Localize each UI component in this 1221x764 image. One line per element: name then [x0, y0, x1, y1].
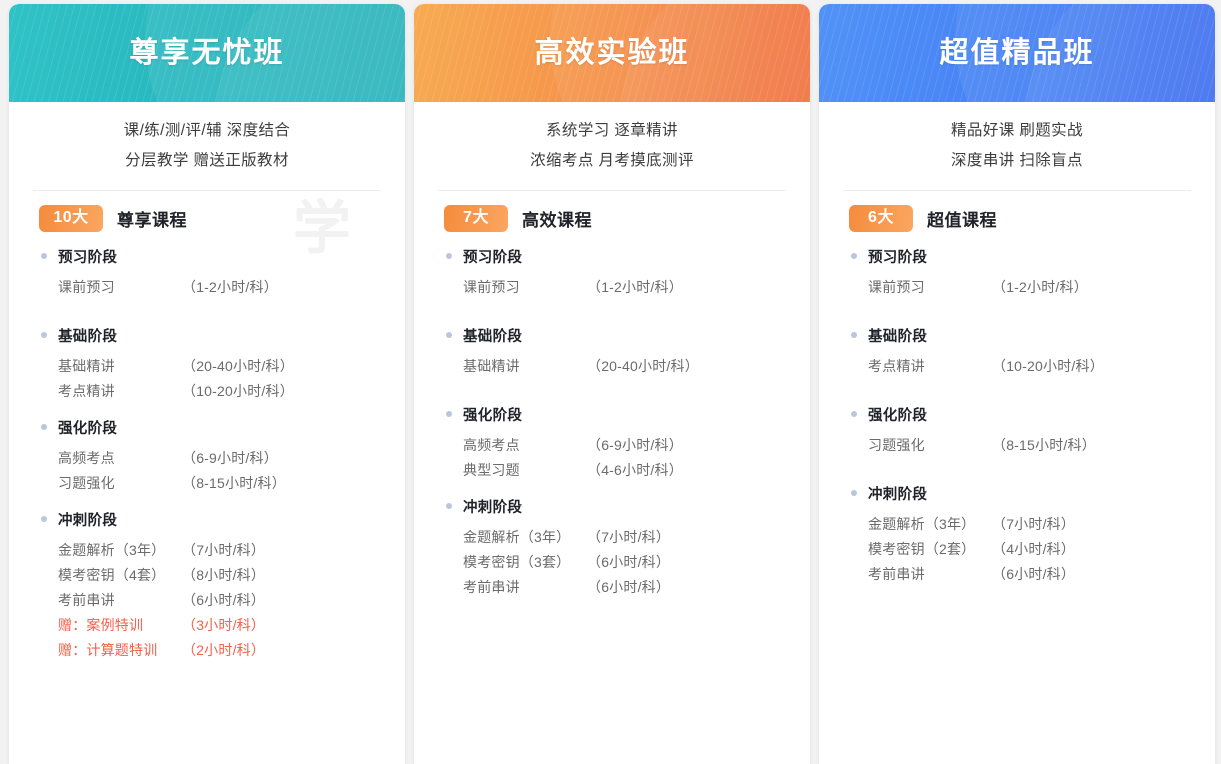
- course-count-badge: 6大: [849, 205, 913, 232]
- stage-name: 强化阶段: [463, 404, 522, 425]
- stage-header: 预习阶段: [414, 244, 810, 268]
- stage-list: 预习阶段课前预习（1-2小时/科）基础阶段基础精讲（20-40小时/科）考点精讲…: [9, 232, 405, 662]
- course-hours: （10-20小时/科）: [992, 356, 1104, 376]
- course-hours: （20-40小时/科）: [182, 356, 294, 376]
- course-row: 典型习题（4-6小时/科）: [414, 457, 810, 482]
- stage-name: 强化阶段: [868, 404, 927, 425]
- stage-block: 强化阶段习题强化（8-15小时/科）: [819, 402, 1215, 457]
- stage-header: 强化阶段: [9, 415, 405, 439]
- course-name: 课前预习: [463, 277, 587, 297]
- course-hours: （8-15小时/科）: [992, 435, 1096, 455]
- stage-spacer: [414, 299, 810, 323]
- course-name: 习题强化: [868, 435, 992, 455]
- course-plan-card[interactable]: 超值精品班精品好课 刷题实战深度串讲 扫除盲点6大超值课程预习阶段课前预习（1-…: [819, 4, 1215, 764]
- stage-header: 基础阶段: [819, 323, 1215, 347]
- course-row: 考点精讲（10-20小时/科）: [9, 378, 405, 403]
- course-row: 金题解析（3年）（7小时/科）: [819, 511, 1215, 536]
- course-hours: （10-20小时/科）: [182, 381, 294, 401]
- course-group-label: 高效课程: [522, 206, 592, 231]
- course-list: 考点精讲（10-20小时/科）: [819, 347, 1215, 378]
- stage-block: 冲刺阶段金题解析（3年）（7小时/科）模考密钥（4套）（8小时/科）考前串讲（6…: [9, 507, 405, 662]
- course-row: 基础精讲（20-40小时/科）: [9, 353, 405, 378]
- course-hours: （3小时/科）: [182, 615, 265, 635]
- course-row: 课前预习（1-2小时/科）: [819, 274, 1215, 299]
- course-row: 习题强化（8-15小时/科）: [819, 432, 1215, 457]
- course-row: 赠：计算题特训（2小时/科）: [9, 637, 405, 662]
- bullet-dot-icon: [41, 253, 47, 259]
- course-plan-card[interactable]: 尊享无忧班课/练/测/评/辅 深度结合分层教学 赠送正版教材10大尊享课程学预习…: [9, 4, 405, 764]
- stage-header: 冲刺阶段: [819, 481, 1215, 505]
- stage-spacer: [819, 378, 1215, 402]
- card-subtitle: 系统学习 逐章精讲浓缩考点 月考摸底测评: [414, 102, 810, 176]
- course-hours: （7小时/科）: [587, 527, 670, 547]
- stage-name: 冲刺阶段: [463, 496, 522, 517]
- course-group-label: 超值课程: [927, 206, 997, 231]
- bullet-dot-icon: [851, 411, 857, 417]
- stage-block: 基础阶段考点精讲（10-20小时/科）: [819, 323, 1215, 378]
- bullet-dot-icon: [851, 253, 857, 259]
- card-subtitle-line: 浓缩考点 月考摸底测评: [414, 146, 810, 176]
- course-hours: （1-2小时/科）: [182, 277, 278, 297]
- course-hours: （6小时/科）: [992, 564, 1075, 584]
- course-count-badge: 7大: [444, 205, 508, 232]
- course-name: 考点精讲: [58, 381, 182, 401]
- card-header-banner: 尊享无忧班: [9, 4, 405, 102]
- bullet-dot-icon: [446, 411, 452, 417]
- course-count-row: 7大高效课程: [414, 191, 810, 232]
- course-list: 课前预习（1-2小时/科）: [819, 268, 1215, 299]
- course-name: 赠：计算题特训: [58, 640, 182, 660]
- card-title: 高效实验班: [414, 4, 810, 102]
- course-list: 高频考点（6-9小时/科）典型习题（4-6小时/科）: [414, 426, 810, 482]
- course-name: 基础精讲: [58, 356, 182, 376]
- course-hours: （6小时/科）: [587, 552, 670, 572]
- course-name: 典型习题: [463, 460, 587, 480]
- course-hours: （4小时/科）: [992, 539, 1075, 559]
- stage-spacer: [9, 299, 405, 323]
- course-list: 高频考点（6-9小时/科）习题强化（8-15小时/科）: [9, 439, 405, 495]
- course-name: 习题强化: [58, 473, 182, 493]
- course-list: 基础精讲（20-40小时/科）考点精讲（10-20小时/科）: [9, 347, 405, 403]
- stage-name: 基础阶段: [868, 325, 927, 346]
- course-name: 赠：案例特训: [58, 615, 182, 635]
- course-row: 考前串讲（6小时/科）: [414, 574, 810, 599]
- course-hours: （20-40小时/科）: [587, 356, 699, 376]
- stage-name: 基础阶段: [58, 325, 117, 346]
- stage-header: 冲刺阶段: [9, 507, 405, 531]
- stage-spacer: [414, 482, 810, 494]
- course-name: 金题解析（3年）: [868, 514, 992, 534]
- course-row: 习题强化（8-15小时/科）: [9, 470, 405, 495]
- card-subtitle-line: 精品好课 刷题实战: [819, 116, 1215, 146]
- stage-block: 预习阶段课前预习（1-2小时/科）: [9, 244, 405, 299]
- course-hours: （7小时/科）: [182, 540, 265, 560]
- course-group-label: 尊享课程: [117, 206, 187, 231]
- stage-header: 预习阶段: [819, 244, 1215, 268]
- stage-name: 冲刺阶段: [868, 483, 927, 504]
- stage-block: 强化阶段高频考点（6-9小时/科）典型习题（4-6小时/科）: [414, 402, 810, 482]
- course-name: 课前预习: [868, 277, 992, 297]
- course-row: 考前串讲（6小时/科）: [819, 561, 1215, 586]
- stage-header: 基础阶段: [414, 323, 810, 347]
- course-name: 模考密钥（2套）: [868, 539, 992, 559]
- stage-spacer: [414, 378, 810, 402]
- bullet-dot-icon: [851, 490, 857, 496]
- course-list: 金题解析（3年）（7小时/科）模考密钥（4套）（8小时/科）考前串讲（6小时/科…: [9, 531, 405, 662]
- stage-list: 预习阶段课前预习（1-2小时/科）基础阶段考点精讲（10-20小时/科）强化阶段…: [819, 232, 1215, 586]
- course-row: 考前串讲（6小时/科）: [9, 587, 405, 612]
- stage-block: 基础阶段基础精讲（20-40小时/科）: [414, 323, 810, 378]
- course-name: 模考密钥（4套）: [58, 565, 182, 585]
- course-row: 模考密钥（4套）（8小时/科）: [9, 562, 405, 587]
- course-list: 金题解析（3年）（7小时/科）模考密钥（3套）（6小时/科）考前串讲（6小时/科…: [414, 518, 810, 599]
- course-plan-card[interactable]: 高效实验班系统学习 逐章精讲浓缩考点 月考摸底测评7大高效课程预习阶段课前预习（…: [414, 4, 810, 764]
- bullet-dot-icon: [41, 516, 47, 522]
- stage-block: 预习阶段课前预习（1-2小时/科）: [414, 244, 810, 299]
- stage-header: 预习阶段: [9, 244, 405, 268]
- course-name: 考前串讲: [58, 590, 182, 610]
- card-header-banner: 高效实验班: [414, 4, 810, 102]
- course-row: 课前预习（1-2小时/科）: [414, 274, 810, 299]
- course-list: 课前预习（1-2小时/科）: [414, 268, 810, 299]
- course-row: 课前预习（1-2小时/科）: [9, 274, 405, 299]
- stage-header: 强化阶段: [819, 402, 1215, 426]
- course-row: 基础精讲（20-40小时/科）: [414, 353, 810, 378]
- stage-spacer: [9, 403, 405, 415]
- course-count-row: 6大超值课程: [819, 191, 1215, 232]
- course-list: 习题强化（8-15小时/科）: [819, 426, 1215, 457]
- course-name: 考点精讲: [868, 356, 992, 376]
- course-hours: （4-6小时/科）: [587, 460, 683, 480]
- course-list: 基础精讲（20-40小时/科）: [414, 347, 810, 378]
- stage-block: 基础阶段基础精讲（20-40小时/科）考点精讲（10-20小时/科）: [9, 323, 405, 403]
- card-subtitle: 精品好课 刷题实战深度串讲 扫除盲点: [819, 102, 1215, 176]
- course-list: 课前预习（1-2小时/科）: [9, 268, 405, 299]
- card-subtitle-line: 课/练/测/评/辅 深度结合: [9, 116, 405, 146]
- course-hours: （6-9小时/科）: [587, 435, 683, 455]
- stage-name: 预习阶段: [463, 246, 522, 267]
- course-hours: （7小时/科）: [992, 514, 1075, 534]
- bullet-dot-icon: [446, 253, 452, 259]
- course-row: 金题解析（3年）（7小时/科）: [414, 524, 810, 549]
- bullet-dot-icon: [446, 332, 452, 338]
- course-name: 课前预习: [58, 277, 182, 297]
- course-plan-comparison: 尊享无忧班课/练/测/评/辅 深度结合分层教学 赠送正版教材10大尊享课程学预习…: [0, 0, 1221, 702]
- bullet-dot-icon: [851, 332, 857, 338]
- course-name: 高频考点: [58, 448, 182, 468]
- stage-spacer: [9, 495, 405, 507]
- bullet-dot-icon: [41, 424, 47, 430]
- course-row: 模考密钥（2套）（4小时/科）: [819, 536, 1215, 561]
- stage-header: 基础阶段: [9, 323, 405, 347]
- stage-block: 强化阶段高频考点（6-9小时/科）习题强化（8-15小时/科）: [9, 415, 405, 495]
- stage-name: 预习阶段: [58, 246, 117, 267]
- course-list: 金题解析（3年）（7小时/科）模考密钥（2套）（4小时/科）考前串讲（6小时/科…: [819, 505, 1215, 586]
- course-hours: （8-15小时/科）: [182, 473, 286, 493]
- course-name: 金题解析（3年）: [463, 527, 587, 547]
- course-hours: （1-2小时/科）: [992, 277, 1088, 297]
- stage-header: 冲刺阶段: [414, 494, 810, 518]
- stage-spacer: [819, 457, 1215, 481]
- course-row: 模考密钥（3套）（6小时/科）: [414, 549, 810, 574]
- course-row: 赠：案例特训（3小时/科）: [9, 612, 405, 637]
- course-row: 高频考点（6-9小时/科）: [414, 432, 810, 457]
- course-hours: （8小时/科）: [182, 565, 265, 585]
- stage-name: 强化阶段: [58, 417, 117, 438]
- stage-header: 强化阶段: [414, 402, 810, 426]
- card-header-banner: 超值精品班: [819, 4, 1215, 102]
- course-name: 考前串讲: [868, 564, 992, 584]
- course-row: 考点精讲（10-20小时/科）: [819, 353, 1215, 378]
- course-hours: （1-2小时/科）: [587, 277, 683, 297]
- stage-list: 预习阶段课前预习（1-2小时/科）基础阶段基础精讲（20-40小时/科）强化阶段…: [414, 232, 810, 599]
- card-title: 超值精品班: [819, 4, 1215, 102]
- stage-name: 基础阶段: [463, 325, 522, 346]
- card-title: 尊享无忧班: [9, 4, 405, 102]
- stage-block: 预习阶段课前预习（1-2小时/科）: [819, 244, 1215, 299]
- bullet-dot-icon: [41, 332, 47, 338]
- course-hours: （2小时/科）: [182, 640, 265, 660]
- course-hours: （6小时/科）: [182, 590, 265, 610]
- card-subtitle-line: 分层教学 赠送正版教材: [9, 146, 405, 176]
- course-row: 高频考点（6-9小时/科）: [9, 445, 405, 470]
- course-name: 考前串讲: [463, 577, 587, 597]
- card-subtitle-line: 系统学习 逐章精讲: [414, 116, 810, 146]
- course-name: 金题解析（3年）: [58, 540, 182, 560]
- course-name: 高频考点: [463, 435, 587, 455]
- stage-block: 冲刺阶段金题解析（3年）（7小时/科）模考密钥（2套）（4小时/科）考前串讲（6…: [819, 481, 1215, 586]
- course-name: 模考密钥（3套）: [463, 552, 587, 572]
- course-count-badge: 10大: [39, 205, 103, 232]
- course-row: 金题解析（3年）（7小时/科）: [9, 537, 405, 562]
- stage-block: 冲刺阶段金题解析（3年）（7小时/科）模考密钥（3套）（6小时/科）考前串讲（6…: [414, 494, 810, 599]
- course-count-row: 10大尊享课程: [9, 191, 405, 232]
- card-subtitle: 课/练/测/评/辅 深度结合分层教学 赠送正版教材: [9, 102, 405, 176]
- stage-name: 冲刺阶段: [58, 509, 117, 530]
- course-hours: （6-9小时/科）: [182, 448, 278, 468]
- stage-name: 预习阶段: [868, 246, 927, 267]
- stage-spacer: [819, 299, 1215, 323]
- course-hours: （6小时/科）: [587, 577, 670, 597]
- bullet-dot-icon: [446, 503, 452, 509]
- card-subtitle-line: 深度串讲 扫除盲点: [819, 146, 1215, 176]
- course-name: 基础精讲: [463, 356, 587, 376]
